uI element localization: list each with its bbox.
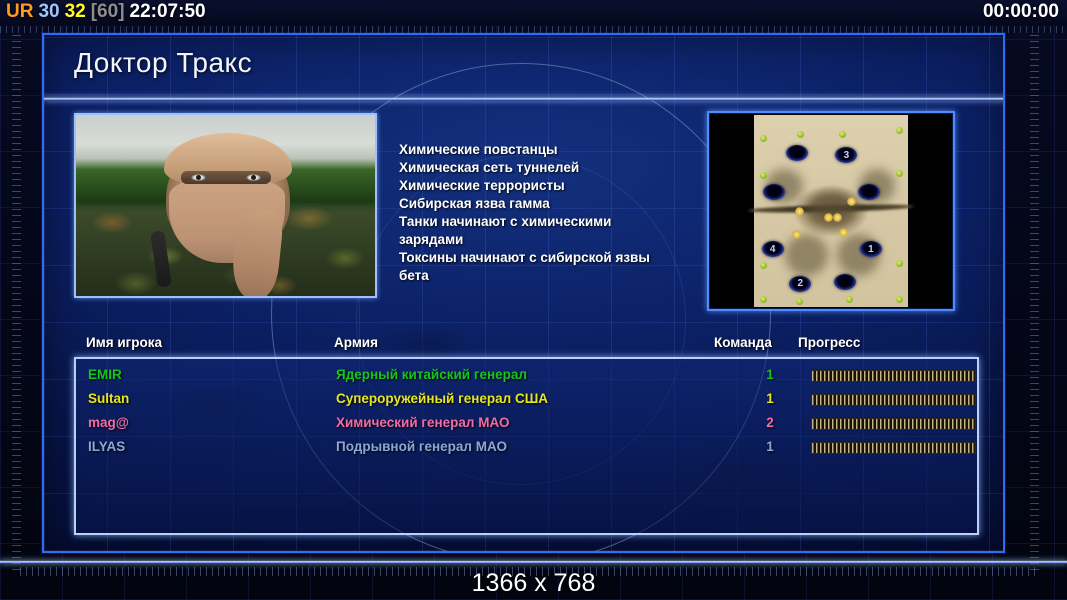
player-army: Подрывной генерал МАО	[336, 439, 507, 454]
map-spawn-point	[834, 274, 856, 290]
ability-line: Токсины начинают с сибирской язвы бета	[399, 249, 699, 285]
map-terrain: 3412	[754, 115, 908, 307]
game-lobby-screen: UR3032[60]22:07:50 00:00:00 Доктор Тракс	[0, 0, 1067, 600]
eye-band	[181, 171, 271, 184]
status-bracket: [60]	[91, 1, 125, 22]
status-clock: 22:07:50	[130, 1, 206, 22]
map-supply-marker	[839, 131, 846, 138]
map-supply-marker	[760, 135, 767, 142]
player-name: mag@	[88, 415, 129, 430]
player-progress-fill	[812, 395, 975, 405]
table-row[interactable]: mag@Химический генерал МАО2	[76, 413, 977, 437]
eye-left	[191, 174, 206, 181]
player-progress-bar	[811, 442, 976, 454]
general-portrait-image	[76, 115, 375, 296]
player-progress-fill	[812, 419, 975, 429]
general-info-panel: Доктор Тракс	[42, 33, 1005, 553]
map-tech-marker	[833, 213, 842, 222]
general-portrait-frame	[74, 113, 377, 298]
player-progress-fill	[812, 371, 975, 381]
player-progress-bar	[811, 418, 976, 430]
map-tech-marker	[847, 197, 856, 206]
map-supply-marker	[760, 296, 767, 303]
ability-line: Сибирская язва гамма	[399, 195, 699, 213]
map-supply-marker	[896, 170, 903, 177]
column-header-name: Имя игрока	[86, 335, 162, 350]
bottom-divider	[0, 560, 1067, 564]
player-team: 1	[760, 367, 780, 382]
pupil-right	[251, 175, 256, 180]
frame-ruler-right	[1030, 30, 1039, 570]
map-spawn-point	[763, 184, 785, 200]
column-header-team: Команда	[714, 335, 772, 350]
eye-right	[246, 174, 261, 181]
player-team: 1	[760, 391, 780, 406]
ability-line: Химические террористы	[399, 177, 699, 195]
title-divider	[44, 97, 1005, 101]
map-supply-marker	[896, 260, 903, 267]
map-supply-marker	[796, 298, 803, 305]
column-header-army: Армия	[334, 335, 378, 350]
map-tech-marker	[839, 228, 848, 237]
ability-line: Танки начинают с химическими зарядами	[399, 213, 699, 249]
player-name: ILYAS	[88, 439, 125, 454]
map-supply-marker	[896, 296, 903, 303]
player-name: EMIR	[88, 367, 122, 382]
player-progress-fill	[812, 443, 975, 453]
map-preview-frame[interactable]: 3412	[707, 111, 955, 311]
table-row[interactable]: ILYASПодрывной генерал МАО1	[76, 437, 977, 461]
resolution-label: 1366 x 768	[0, 569, 1067, 598]
general-ability-list: Химические повстанцы Химическая сеть тун…	[399, 141, 699, 285]
table-row[interactable]: SultanСупероружейный генерал США1	[76, 389, 977, 413]
map-spawn-point: 4	[762, 241, 784, 257]
player-army: Химический генерал МАО	[336, 415, 510, 430]
session-status: UR3032[60]22:07:50	[6, 1, 211, 23]
map-supply-marker	[846, 296, 853, 303]
map-supply-marker	[896, 127, 903, 134]
player-team: 1	[760, 439, 780, 454]
ability-line: Химические повстанцы	[399, 141, 699, 159]
session-timer: 00:00:00	[983, 1, 1059, 23]
status-value-2: 32	[65, 1, 86, 22]
map-tech-marker	[795, 207, 804, 216]
topbar-ruler-ticks	[0, 26, 1067, 33]
page-title: Доктор Тракс	[74, 47, 252, 79]
map-spawn-point: 2	[789, 276, 811, 292]
player-team: 2	[760, 415, 780, 430]
status-prefix: UR	[6, 1, 33, 22]
map-spawn-point: 3	[835, 147, 857, 163]
map-shadow	[785, 234, 828, 276]
upper-content-row: Химические повстанцы Химическая сеть тун…	[44, 107, 1005, 325]
pupil-left	[196, 175, 201, 180]
status-value-1: 30	[38, 1, 59, 22]
map-supply-marker	[797, 131, 804, 138]
player-army: Ядерный китайский генерал	[336, 367, 527, 382]
ability-line: Химическая сеть туннелей	[399, 159, 699, 177]
player-list-panel: EMIRЯдерный китайский генерал1SultanСупе…	[74, 357, 979, 535]
map-tech-marker	[792, 230, 801, 239]
player-progress-bar	[811, 370, 976, 382]
top-status-bar: UR3032[60]22:07:50 00:00:00	[0, 0, 1067, 26]
frame-ruler-left	[12, 30, 21, 570]
map-preview-inner: 3412	[711, 115, 951, 307]
map-spawn-point	[858, 184, 880, 200]
player-table-header: Имя игрока Армия Команда Прогресс	[44, 335, 1005, 357]
player-name: Sultan	[88, 391, 129, 406]
column-header-progress: Прогресс	[798, 335, 860, 350]
map-supply-marker	[760, 262, 767, 269]
map-spawn-point	[786, 145, 808, 161]
map-supply-marker	[760, 172, 767, 179]
table-row[interactable]: EMIRЯдерный китайский генерал1	[76, 365, 977, 389]
player-progress-bar	[811, 394, 976, 406]
player-rows-container: EMIRЯдерный китайский генерал1SultanСупе…	[76, 365, 977, 461]
player-army: Супероружейный генерал США	[336, 391, 548, 406]
map-tech-marker	[824, 213, 833, 222]
